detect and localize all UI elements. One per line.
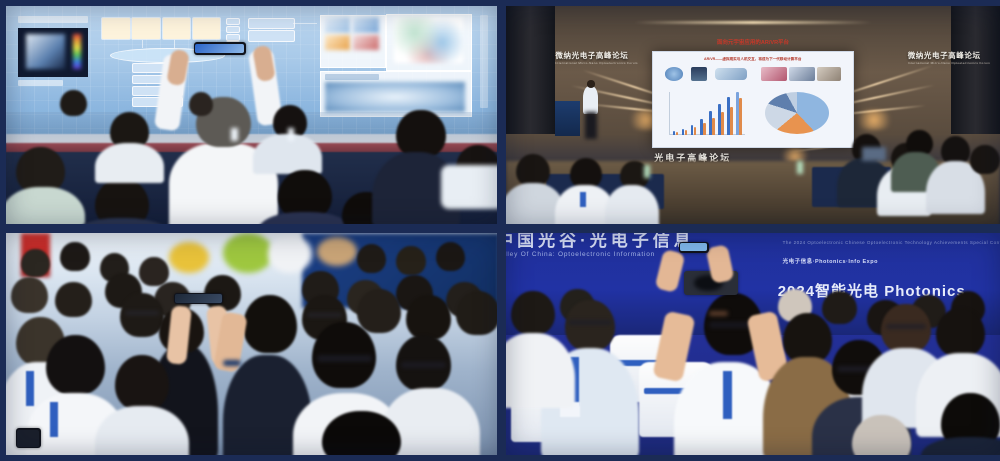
banner-left-subtitle: International Micro-Nano Optoelectronics… bbox=[555, 61, 637, 65]
crowd-head bbox=[115, 355, 169, 411]
spark-glow bbox=[852, 110, 896, 130]
slide-photo-c bbox=[817, 67, 841, 81]
horizontal-divider bbox=[0, 224, 1000, 230]
banner-left-title: 微纳光电子高峰论坛 bbox=[555, 50, 637, 61]
wall-card-1 bbox=[102, 18, 130, 39]
banner-right-subtitle: International Micro-Nano Optoelectronics… bbox=[908, 61, 990, 65]
water-bottle bbox=[644, 165, 650, 178]
crowd-head bbox=[396, 246, 426, 275]
laptop-screen bbox=[862, 147, 887, 160]
wall-chip-col-3 bbox=[226, 34, 240, 41]
lanyard bbox=[723, 371, 732, 420]
background-figure bbox=[317, 237, 357, 266]
speaker-legs bbox=[585, 112, 597, 139]
banner-left: 微纳光电子高峰论坛 International Micro-Nano Optoe… bbox=[555, 50, 637, 66]
wall-thumb-c bbox=[325, 35, 351, 50]
bar-vr bbox=[730, 107, 733, 135]
crowd-head bbox=[120, 293, 164, 337]
background-figure bbox=[169, 242, 209, 273]
audience-head bbox=[970, 145, 1000, 174]
lanyard bbox=[50, 402, 58, 438]
bracelet bbox=[709, 311, 729, 316]
eyeglasses bbox=[317, 355, 371, 362]
crowd-head bbox=[55, 282, 92, 318]
crowd-head bbox=[139, 257, 169, 286]
panel-top-left bbox=[6, 6, 500, 227]
audience-head bbox=[189, 92, 214, 116]
wall-footer-strip bbox=[18, 80, 62, 86]
water-bottle bbox=[231, 128, 238, 141]
crowd-head bbox=[60, 242, 90, 271]
panel-bottom-right: 中国光谷·光电子信息 Valley Of China: Optoelectron… bbox=[506, 233, 1000, 455]
smartphone-background bbox=[679, 242, 709, 253]
wall-connector-v1 bbox=[142, 40, 143, 49]
wall-thumb-a bbox=[325, 17, 351, 32]
wall-thumb-d bbox=[353, 35, 379, 50]
chair-back bbox=[441, 165, 500, 209]
wall-card-2 bbox=[132, 18, 160, 39]
phone-screen bbox=[17, 430, 39, 447]
audience-head bbox=[511, 291, 555, 335]
water-bottle bbox=[797, 161, 803, 174]
audience-head bbox=[565, 300, 614, 351]
background-figure bbox=[223, 233, 272, 273]
crowd-head bbox=[11, 277, 48, 313]
audience-head bbox=[936, 308, 985, 357]
bar-vr bbox=[721, 112, 724, 135]
backdrop-line-1: The 2024 Optoelectronic Chinese Optoelec… bbox=[783, 240, 1000, 245]
eyeglasses bbox=[401, 362, 445, 368]
wall-label-box-1 bbox=[248, 18, 294, 29]
wristwatch bbox=[223, 360, 241, 367]
panel-bottom-left bbox=[6, 233, 500, 455]
lanyard bbox=[580, 192, 586, 207]
audience-head bbox=[783, 313, 832, 364]
wall-chip-col-2 bbox=[226, 26, 240, 33]
wall-thumb-b bbox=[353, 17, 379, 32]
water-bottle bbox=[288, 128, 295, 141]
backdrop-title-cn: 中国光谷·光电子信息 bbox=[506, 233, 695, 251]
blue-backdrop-audience-photo: 中国光谷·光电子信息 Valley Of China: Optoelectron… bbox=[506, 233, 1000, 455]
foreground-man-head bbox=[243, 295, 297, 353]
eyeglasses bbox=[886, 324, 926, 329]
stage-top-light bbox=[634, 21, 871, 24]
smartphone-held bbox=[16, 428, 41, 448]
crowd-head bbox=[357, 289, 401, 333]
crowd-head bbox=[436, 242, 466, 271]
phone-screen bbox=[680, 243, 707, 251]
slide-icon-glasses bbox=[715, 68, 747, 79]
crowd-head bbox=[357, 244, 387, 273]
smartphone-raised bbox=[174, 293, 223, 304]
speaker-podium bbox=[555, 101, 580, 136]
wall-bottom-panel-title bbox=[325, 74, 379, 80]
bar-vr bbox=[703, 123, 706, 135]
wall-bottom-art bbox=[325, 82, 466, 112]
stage-curtain-left bbox=[506, 6, 555, 134]
speaker-head bbox=[587, 80, 596, 88]
audience-body bbox=[95, 143, 164, 183]
banner-right: 微纳光电子高峰论坛 International Micro-Nano Optoe… bbox=[908, 50, 990, 66]
audience-head bbox=[822, 291, 857, 324]
slide-icon-device bbox=[691, 67, 707, 80]
smartphone-raised bbox=[194, 42, 246, 54]
wall-monitor-image bbox=[26, 34, 66, 69]
stage-curtain-right bbox=[951, 6, 1000, 134]
crowd-head bbox=[21, 249, 51, 278]
lanyard bbox=[26, 371, 34, 407]
backdrop-title-en: Valley Of China: Optoelectronic Informat… bbox=[506, 251, 655, 258]
bar-ar bbox=[673, 131, 676, 135]
eyeglasses bbox=[568, 320, 612, 326]
wall-header-strip bbox=[18, 16, 87, 23]
slide-photo-a bbox=[761, 67, 787, 81]
speaker-body bbox=[583, 86, 599, 115]
bar-vr bbox=[676, 132, 679, 135]
projection-screen: AR/VR——虚拟现实与人机交互，将成为下一代移动计算平台 bbox=[652, 51, 854, 148]
standing-crowd-photo bbox=[6, 233, 500, 455]
crowd-head bbox=[456, 291, 500, 335]
wall-right-edge-strip bbox=[480, 15, 488, 108]
wall-bus-line bbox=[293, 23, 318, 24]
banner-right-title: 微纳光电子高峰论坛 bbox=[908, 50, 990, 61]
panel-top-right: 微纳光电子高峰论坛 International Micro-Nano Optoe… bbox=[506, 6, 1000, 227]
slide-title-text: 面向元宇宙应用的AR/VR平台 bbox=[649, 38, 856, 46]
wall-label-box-2 bbox=[248, 30, 294, 41]
audience-body bbox=[605, 185, 659, 227]
slide-pie-chart bbox=[765, 92, 829, 134]
bar-vr bbox=[685, 130, 688, 135]
wall-big-thumb-art bbox=[394, 17, 463, 63]
slide-icon-globe bbox=[665, 67, 683, 80]
backdrop-line-2: 光电子信息·Photonics·Info Expo bbox=[783, 257, 878, 265]
vertical-divider bbox=[497, 0, 503, 461]
crowd-head bbox=[46, 335, 105, 395]
background-figure bbox=[268, 235, 312, 273]
slide-bar-chart bbox=[669, 92, 745, 135]
eyeglasses bbox=[307, 313, 342, 317]
slide-subtitle-text: AR/VR——虚拟现实与人机交互，将成为下一代移动计算平台 bbox=[665, 57, 841, 62]
wall-connector-v2 bbox=[174, 40, 175, 49]
slide-title-overlay: 面向元宇宙应用的AR/VR平台 bbox=[649, 38, 856, 48]
bar-ar bbox=[682, 129, 685, 135]
audience-head bbox=[60, 90, 87, 117]
wall-chip-col-1 bbox=[226, 18, 240, 25]
phone-screen bbox=[175, 294, 221, 302]
wall-card-3 bbox=[163, 18, 191, 39]
wall-card-4 bbox=[193, 18, 221, 39]
wall-colorbar bbox=[73, 34, 81, 69]
led-wall-audience-photo bbox=[6, 6, 500, 227]
phone-screen bbox=[195, 44, 244, 53]
bar-vr bbox=[712, 118, 715, 135]
summit-forum-hall-photo: 微纳光电子高峰论坛 International Micro-Nano Optoe… bbox=[506, 6, 1000, 227]
eyeglasses bbox=[125, 311, 160, 315]
crowd-head bbox=[406, 295, 450, 339]
slide-photo-b bbox=[789, 67, 815, 81]
photo-collage: 微纳光电子高峰论坛 International Micro-Nano Optoe… bbox=[0, 0, 1000, 461]
bar-vr bbox=[739, 98, 742, 135]
